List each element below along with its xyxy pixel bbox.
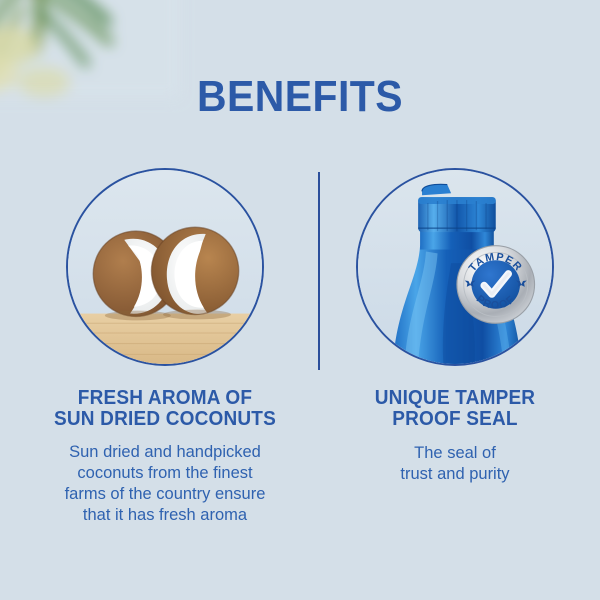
body-line: The seal of — [330, 443, 580, 464]
tamper-proof-bottle-image: TAMPER PROOF — [356, 168, 554, 366]
body-line: that it has fresh aroma — [20, 505, 310, 526]
benefit-column-tamper-proof: TAMPER PROOF UNIQUE TAMPER PROOF SEAL Th… — [330, 168, 580, 485]
benefit-title-tamper-proof: UNIQUE TAMPER PROOF SEAL — [336, 388, 574, 430]
title-line: SUN DRIED COCONUTS — [27, 409, 303, 430]
split-coconut-image — [66, 168, 264, 366]
benefit-title-coconut: FRESH AROMA OF SUN DRIED COCONUTS — [27, 388, 303, 430]
title-line: UNIQUE TAMPER — [336, 388, 574, 409]
page-title: BENEFITS — [21, 72, 579, 122]
benefit-body-tamper-proof: The seal of trust and purity — [330, 443, 580, 485]
title-line: FRESH AROMA OF — [27, 388, 303, 409]
benefit-column-coconut: FRESH AROMA OF SUN DRIED COCONUTS Sun dr… — [20, 168, 310, 526]
title-line: PROOF SEAL — [336, 409, 574, 430]
body-line: farms of the country ensure — [20, 484, 310, 505]
body-line: coconuts from the finest — [20, 463, 310, 484]
column-divider — [318, 172, 320, 370]
body-line: Sun dried and handpicked — [20, 442, 310, 463]
benefit-body-coconut: Sun dried and handpicked coconuts from t… — [20, 442, 310, 526]
body-line: trust and purity — [330, 464, 580, 485]
